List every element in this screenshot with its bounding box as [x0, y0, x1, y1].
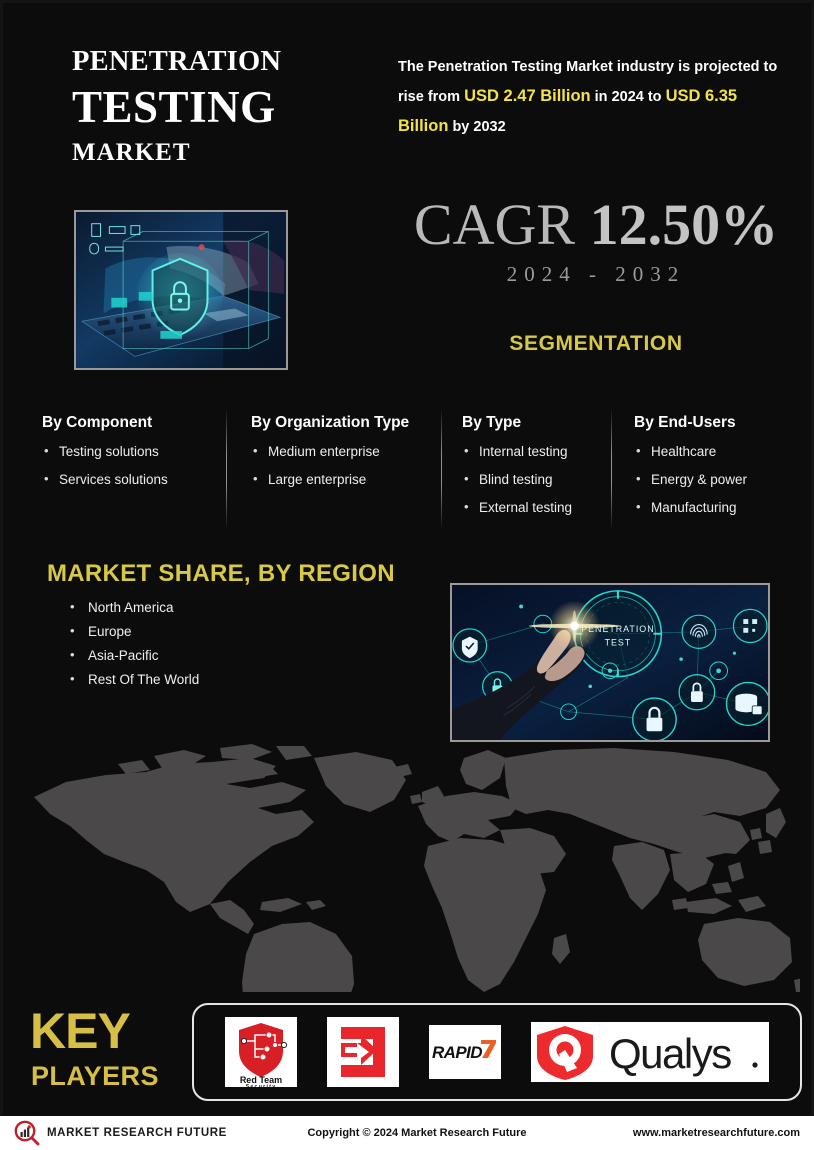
cagr-line: CAGR 12.50% — [396, 196, 796, 254]
intro-paragraph: The Penetration Testing Market industry … — [398, 54, 790, 142]
list-item: Internal testing — [462, 445, 602, 460]
cybersecurity-laptop-image — [74, 210, 288, 370]
penetration-test-image: PENETRATION TEST — [450, 583, 770, 742]
title-line-2: TESTING — [72, 85, 402, 130]
segment-item-list: Internal testing Blind testing External … — [462, 445, 602, 516]
list-item: Energy & power — [634, 473, 772, 488]
list-item: Testing solutions — [42, 445, 217, 460]
intro-part-3: by 2032 — [448, 119, 505, 135]
list-item: Healthcare — [634, 445, 772, 460]
footer-brand-text: MARKET RESEARCH FUTURE — [47, 1127, 227, 1139]
footer-bar: MARKET RESEARCH FUTURE Copyright © 2024 … — [0, 1116, 814, 1150]
logo-qualys: Qualys — [531, 1022, 769, 1082]
logo-acunetix — [327, 1017, 399, 1087]
key-players-heading-line2: PLAYERS — [31, 1063, 159, 1090]
list-item: Europe — [66, 625, 199, 640]
logo-red-team-security: Red Team Security — [225, 1017, 297, 1087]
segment-column-by-component: By Component Testing solutions Services … — [42, 414, 227, 529]
cagr-label: CAGR — [414, 192, 575, 257]
market-share-heading: MARKET SHARE, BY REGION — [47, 560, 395, 588]
list-item: Medium enterprise — [251, 445, 432, 460]
list-item: North America — [66, 601, 199, 616]
segmentation-heading: SEGMENTATION — [396, 332, 796, 356]
page-title: PENETRATION TESTING MARKET — [72, 48, 402, 165]
cagr-block: CAGR 12.50% 2024 - 2032 — [396, 196, 796, 287]
intro-value-2024: USD 2.47 Billion — [464, 87, 591, 105]
list-item: Asia-Pacific — [66, 649, 199, 664]
intro-part-2: in 2024 to — [591, 89, 666, 105]
segment-column-by-end-users: By End-Users Healthcare Energy & power M… — [612, 414, 782, 529]
key-players-logo-box: Red Team Security RAPID — [192, 1003, 802, 1101]
logo-text-rapid: RAPID — [432, 1043, 482, 1062]
segment-title: By End-Users — [634, 414, 772, 432]
hologram-label-line2: TEST — [605, 637, 632, 647]
list-item: Blind testing — [462, 473, 602, 488]
segment-column-by-organization-type: By Organization Type Medium enterprise L… — [227, 414, 442, 529]
market-share-region-list: North America Europe Asia-Pacific Rest O… — [66, 601, 199, 696]
logo-text-qualys: Qualys — [609, 1030, 731, 1077]
key-players-heading-line1: KEY — [30, 1006, 130, 1056]
logo-rapid7: RAPID — [429, 1025, 501, 1079]
list-item: External testing — [462, 501, 602, 516]
list-item: Services solutions — [42, 473, 217, 488]
market-research-future-logo-icon — [14, 1120, 40, 1146]
segmentation-columns: By Component Testing solutions Services … — [42, 414, 782, 529]
title-line-1: PENETRATION — [72, 48, 402, 77]
segment-item-list: Medium enterprise Large enterprise — [251, 445, 432, 488]
segment-title: By Type — [462, 414, 602, 432]
cagr-value: 12.50% — [590, 192, 779, 257]
segment-title: By Component — [42, 414, 217, 432]
logo-text-security: Security — [246, 1084, 277, 1087]
cagr-period: 2024 - 2032 — [396, 262, 796, 287]
segment-title: By Organization Type — [251, 414, 432, 432]
footer-copyright: Copyright © 2024 Market Research Future — [274, 1127, 560, 1139]
infographic-poster: PENETRATION TESTING MARKET — [0, 0, 814, 1150]
title-line-3: MARKET — [72, 140, 402, 165]
list-item: Large enterprise — [251, 473, 432, 488]
list-item: Manufacturing — [634, 501, 772, 516]
footer-url[interactable]: www.marketresearchfuture.com — [560, 1127, 800, 1139]
segment-item-list: Testing solutions Services solutions — [42, 445, 217, 488]
footer-brand: MARKET RESEARCH FUTURE — [14, 1120, 274, 1146]
segment-column-by-type: By Type Internal testing Blind testing E… — [442, 414, 612, 529]
world-map — [14, 742, 800, 992]
segment-item-list: Healthcare Energy & power Manufacturing — [634, 445, 772, 516]
list-item: Rest Of The World — [66, 673, 199, 688]
